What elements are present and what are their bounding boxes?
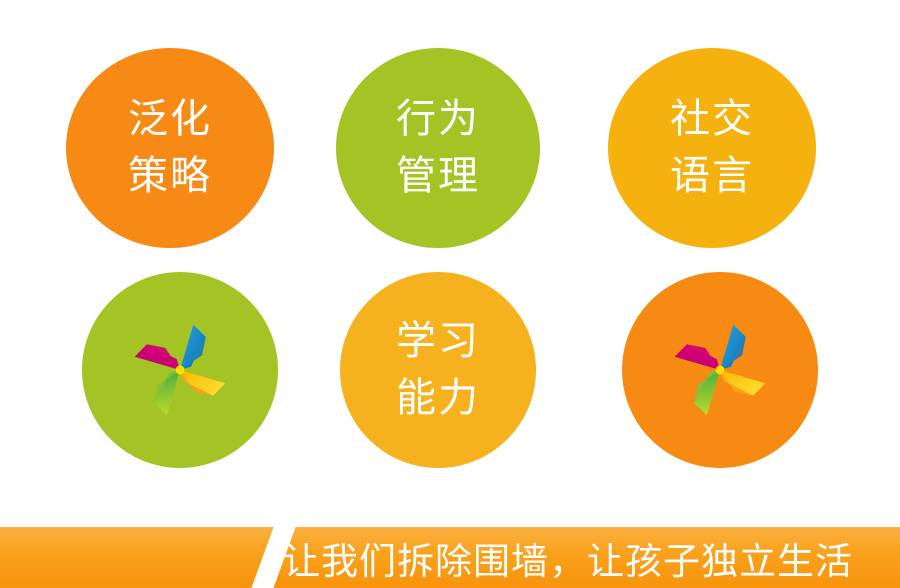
pinwheel-icon (118, 308, 241, 431)
concept-circle-behavior-management[interactable]: 行为 管理 (336, 48, 540, 248)
circle-label-line2: 语言 (670, 148, 754, 205)
pinwheel-icon (658, 308, 781, 431)
circle-label-line2: 管理 (396, 148, 480, 205)
circle-label-line1: 行为 (396, 91, 480, 148)
circle-label-line1: 社交 (670, 91, 754, 148)
concept-circle-logo-orange[interactable] (622, 272, 818, 468)
circle-label-line1: 泛化 (128, 91, 212, 148)
circle-label-line2: 策略 (128, 148, 212, 205)
concept-circle-learning-ability[interactable]: 学习 能力 (340, 272, 536, 468)
banner-slogan: 让我们拆除围墙，让孩子独立生活 (283, 527, 900, 588)
circle-label-line2: 能力 (396, 370, 480, 427)
circle-label-line1: 学习 (396, 313, 480, 370)
concept-circle-logo-green[interactable] (82, 272, 278, 468)
concept-circle-social-language[interactable]: 社交 语言 (608, 48, 816, 248)
bottom-banner: 让我们拆除围墙，让孩子独立生活 (0, 527, 900, 588)
slide-canvas: 泛化 策略 行为 管理 社交 语言 (0, 0, 900, 588)
concept-circle-generalization-strategy[interactable]: 泛化 策略 (66, 48, 274, 248)
